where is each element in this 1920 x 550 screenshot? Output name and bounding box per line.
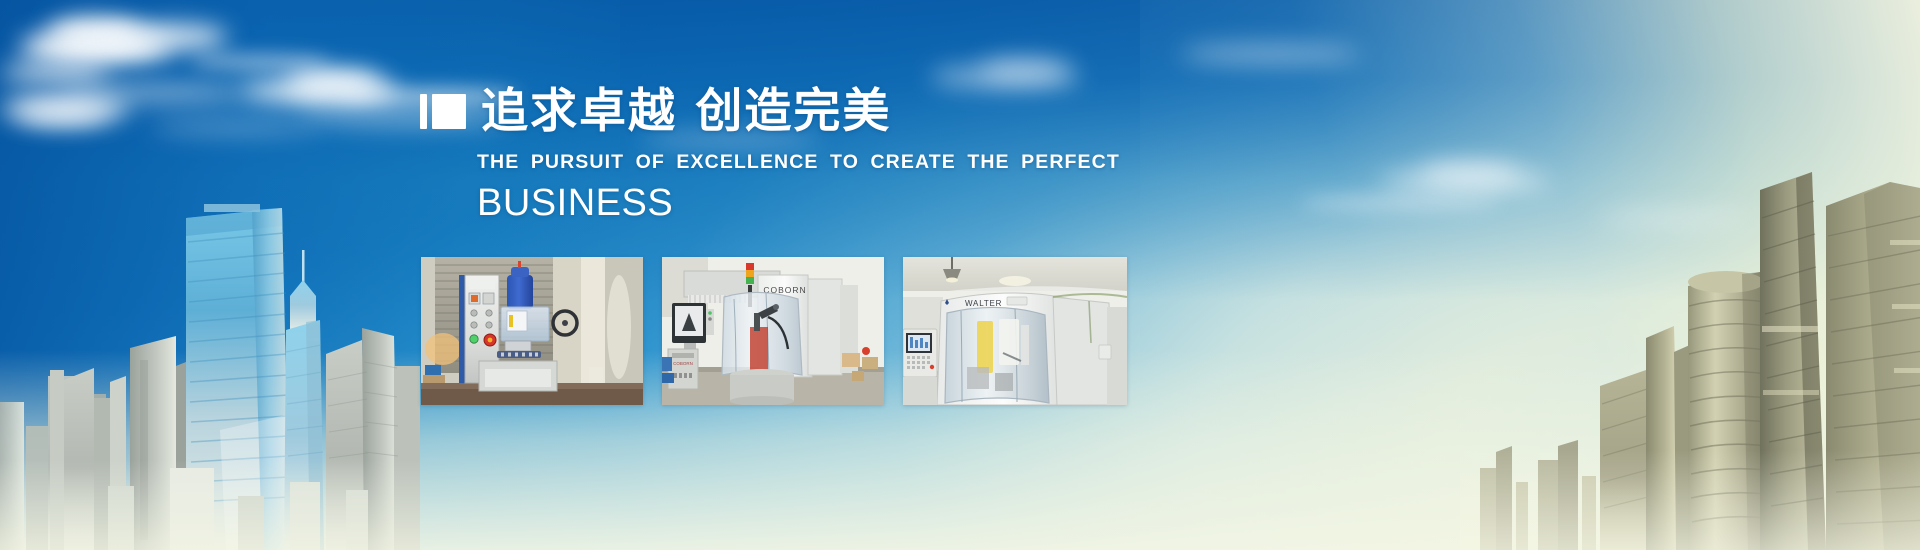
headline-row: 追求卓越 创造完美 [420,88,1180,135]
photo-machine-3-walter[interactable]: WALTER [903,257,1127,405]
photo-machine-1[interactable] [421,257,643,405]
logo-bar-shape [420,94,427,129]
promotional-banner: 追求卓越 创造完美 THE PURSUIT OF EXCELLENCE TO C… [0,0,1920,550]
photo-1-artwork [421,257,643,405]
business-word: BUSINESS [477,182,1180,225]
headline-chinese: 追求卓越 创造完美 [481,88,891,135]
svg-text:COBORN: COBORN [673,361,693,366]
photo-machine-2-coborn[interactable]: COBORN [662,257,884,405]
photo-3-artwork: WALTER [903,257,1127,405]
logo-square-shape [432,94,466,129]
svg-text:WALTER: WALTER [965,299,1002,308]
square-bar-logo-icon [420,94,466,129]
photo-2-artwork: COBORN [662,257,884,405]
banner-copy-block: 追求卓越 创造完美 THE PURSUIT OF EXCELLENCE TO C… [420,88,1180,225]
subtitle-english: THE PURSUIT OF EXCELLENCE TO CREATE THE … [477,151,1180,174]
product-photo-strip: COBORN [421,257,1127,405]
